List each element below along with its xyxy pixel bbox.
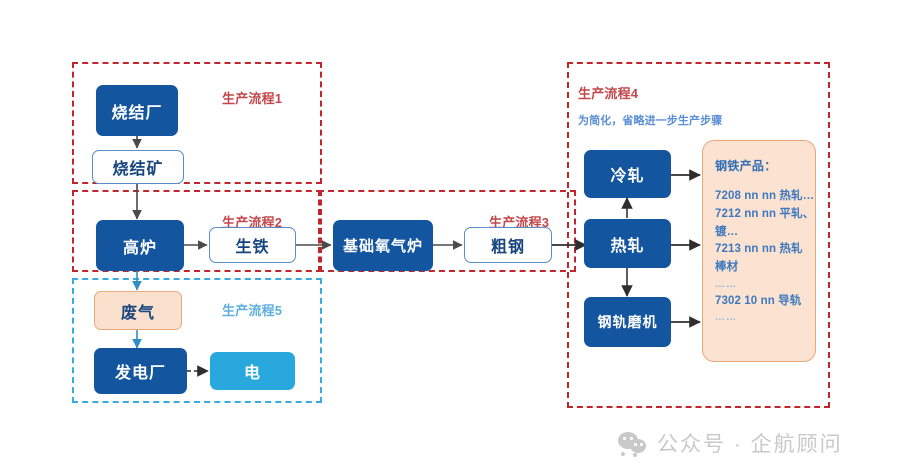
diagram-canvas: 生产流程1 生产流程2 生产流程3 生产流程4 为简化，省略进一步生产步骤 生产… [0,0,900,470]
group-label-process-5: 生产流程5 [222,300,282,319]
node-rail-grinding-mill[interactable]: 钢轨磨机 [584,297,671,347]
footer-watermark: 公众号 · 企航顾问 [618,428,843,458]
node-cold-rolling[interactable]: 冷轧 [584,150,671,198]
node-pig-iron[interactable]: 生铁 [209,227,296,263]
node-sinter-plant[interactable]: 烧结厂 [96,85,178,136]
group-subtitle-process-4: 为简化，省略进一步生产步骤 [578,112,722,128]
node-basic-oxygen-furnace[interactable]: 基础氧气炉 [333,220,433,271]
steel-product-item: 7208 nn nn 热轧… [715,188,805,206]
steel-product-item: 7213 nn nn 热轧 [715,241,805,259]
node-hot-rolling[interactable]: 热轧 [584,219,671,268]
steel-product-ellipsis: …… [715,310,805,326]
node-electricity[interactable]: 电 [210,352,295,390]
group-label-process-1: 生产流程1 [222,88,282,107]
steel-product-item: 镀… [715,224,805,242]
footer-text: 公众号 · 企航顾问 [657,428,843,458]
node-power-plant[interactable]: 发电厂 [94,348,187,394]
steel-product-item: 棒材 [715,259,805,277]
node-blast-furnace[interactable]: 高炉 [96,220,184,271]
node-crude-steel[interactable]: 粗钢 [464,227,552,263]
steel-products-title: 钢铁产品： [715,157,805,174]
wechat-icon [618,432,648,454]
node-waste-gas[interactable]: 废气 [94,291,182,330]
steel-product-ellipsis: …… [715,277,805,293]
steel-product-item: 7212 nn nn 平轧、 [715,206,805,224]
steel-product-item: 7302 10 nn 导轨 [715,293,805,311]
group-label-process-4: 生产流程4 [578,83,638,102]
steel-products-panel: 钢铁产品： 7208 nn nn 热轧… 7212 nn nn 平轧、 镀… 7… [702,140,816,362]
node-sinter-ore[interactable]: 烧结矿 [92,150,184,184]
